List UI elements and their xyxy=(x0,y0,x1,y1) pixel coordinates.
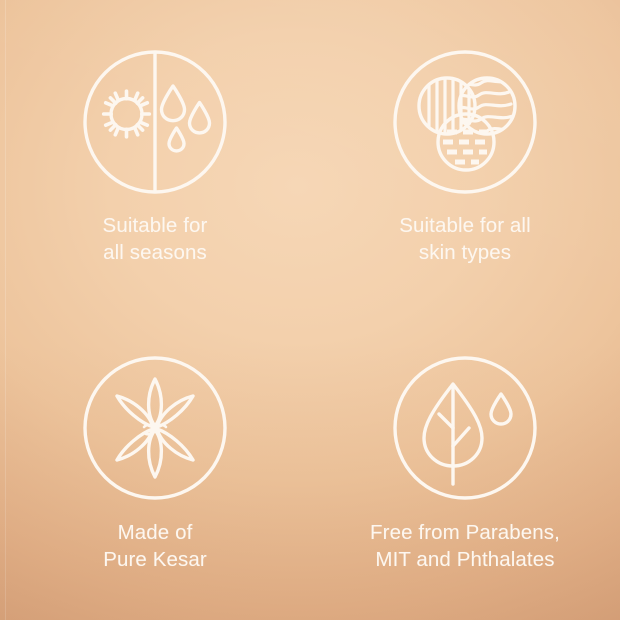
water-droplet-icon xyxy=(491,394,511,424)
feature-item-seasons: Suitable for all seasons xyxy=(0,0,310,310)
leaf-icon xyxy=(424,384,482,484)
saffron-flower-icon xyxy=(81,354,229,502)
sun-icon xyxy=(104,91,150,137)
seasons-sun-and-droplets-icon xyxy=(81,48,229,196)
skin-types-three-circles-icon xyxy=(391,48,539,196)
feature-caption-seasons: Suitable for all seasons xyxy=(103,212,208,267)
water-droplet-icon xyxy=(162,86,210,151)
feature-caption-pure-kesar: Made of Pure Kesar xyxy=(103,519,207,574)
leaf-and-droplet-icon xyxy=(391,354,539,502)
feature-item-free-from: Free from Parabens, MIT and Phthalates xyxy=(310,310,620,620)
six-petal-flower xyxy=(117,379,193,477)
feature-caption-skin-types: Suitable for all skin types xyxy=(399,212,531,267)
feature-item-pure-kesar: Made of Pure Kesar xyxy=(0,310,310,620)
feature-item-skin-types: Suitable for all skin types xyxy=(310,0,620,310)
feature-caption-free-from: Free from Parabens, MIT and Phthalates xyxy=(370,519,560,574)
feature-badges-poster: Suitable for all seasons xyxy=(0,0,620,620)
feature-grid: Suitable for all seasons xyxy=(0,0,620,620)
